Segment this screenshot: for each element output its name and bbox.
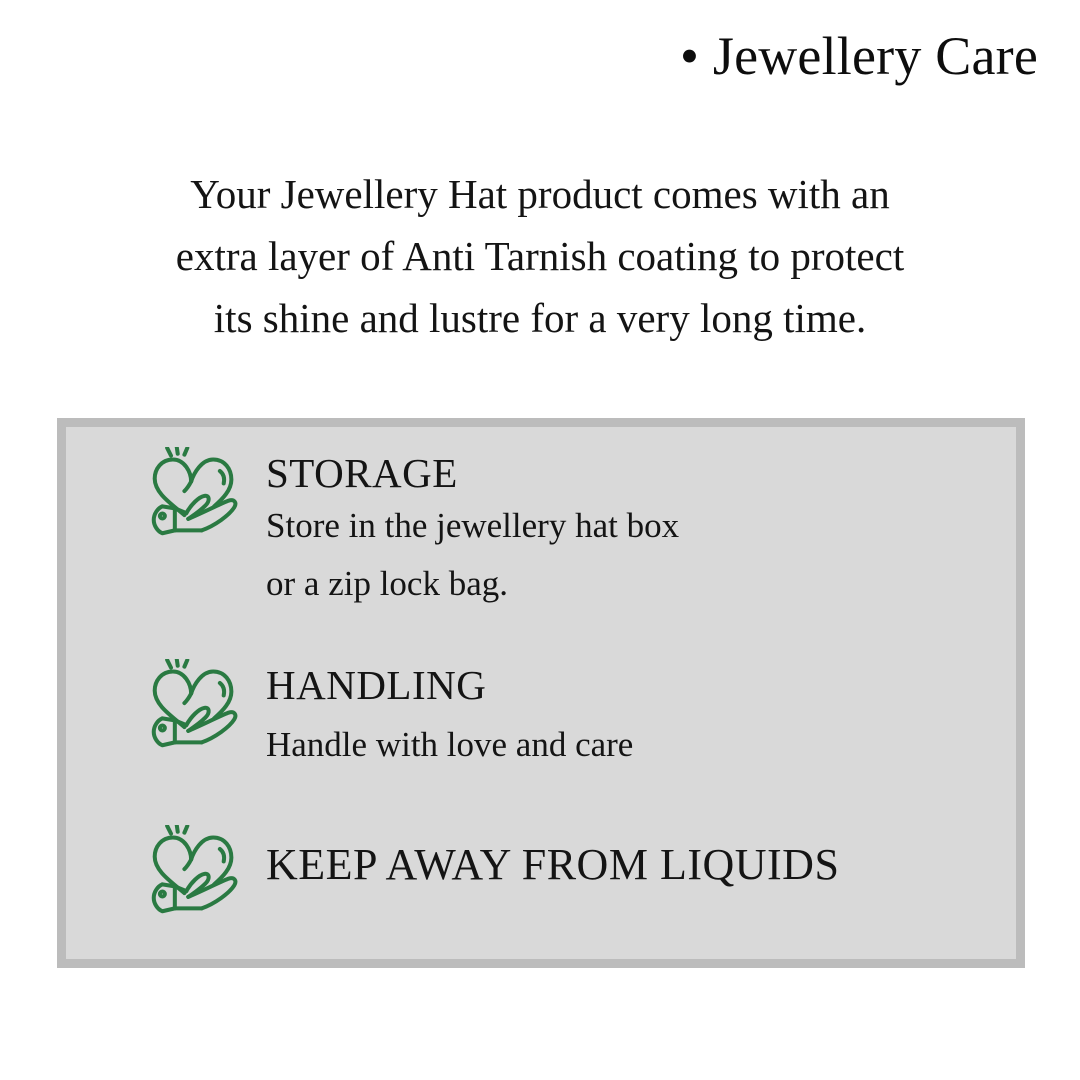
section-heading-liquids: KEEP AWAY FROM LIQUIDS [266, 827, 839, 893]
care-row-text: KEEP AWAY FROM LIQUIDS [266, 825, 839, 893]
care-row-liquids: KEEP AWAY FROM LIQUIDS [146, 825, 839, 917]
intro-line-2: extra layer of Anti Tarnish coating to p… [60, 225, 1020, 287]
care-row-storage: STORAGE Store in the jewellery hat box o… [146, 447, 679, 613]
heart-in-hand-icon [146, 825, 242, 917]
section-heading-storage: STORAGE [266, 449, 679, 497]
care-row-handling: HANDLING Handle with love and care [146, 659, 633, 767]
section-line-storage-1: Store in the jewellery hat box [266, 497, 679, 555]
intro-line-3: its shine and lustre for a very long tim… [60, 287, 1020, 349]
section-line-storage-2: or a zip lock bag. [266, 555, 679, 613]
page-title: • Jewellery Care [680, 28, 1038, 85]
section-heading-handling: HANDLING [266, 661, 633, 709]
care-row-text: HANDLING Handle with love and care [266, 659, 633, 767]
intro-line-1: Your Jewellery Hat product comes with an [60, 163, 1020, 225]
care-instructions-panel: STORAGE Store in the jewellery hat box o… [57, 418, 1025, 968]
page-title-row: • Jewellery Care [0, 28, 1080, 85]
section-line-handling-1: Handle with love and care [266, 723, 633, 767]
heart-in-hand-icon [146, 659, 242, 751]
intro-paragraph: Your Jewellery Hat product comes with an… [60, 163, 1020, 349]
heart-in-hand-icon [146, 447, 242, 539]
care-rows: STORAGE Store in the jewellery hat box o… [66, 427, 1016, 959]
care-row-text: STORAGE Store in the jewellery hat box o… [266, 447, 679, 613]
